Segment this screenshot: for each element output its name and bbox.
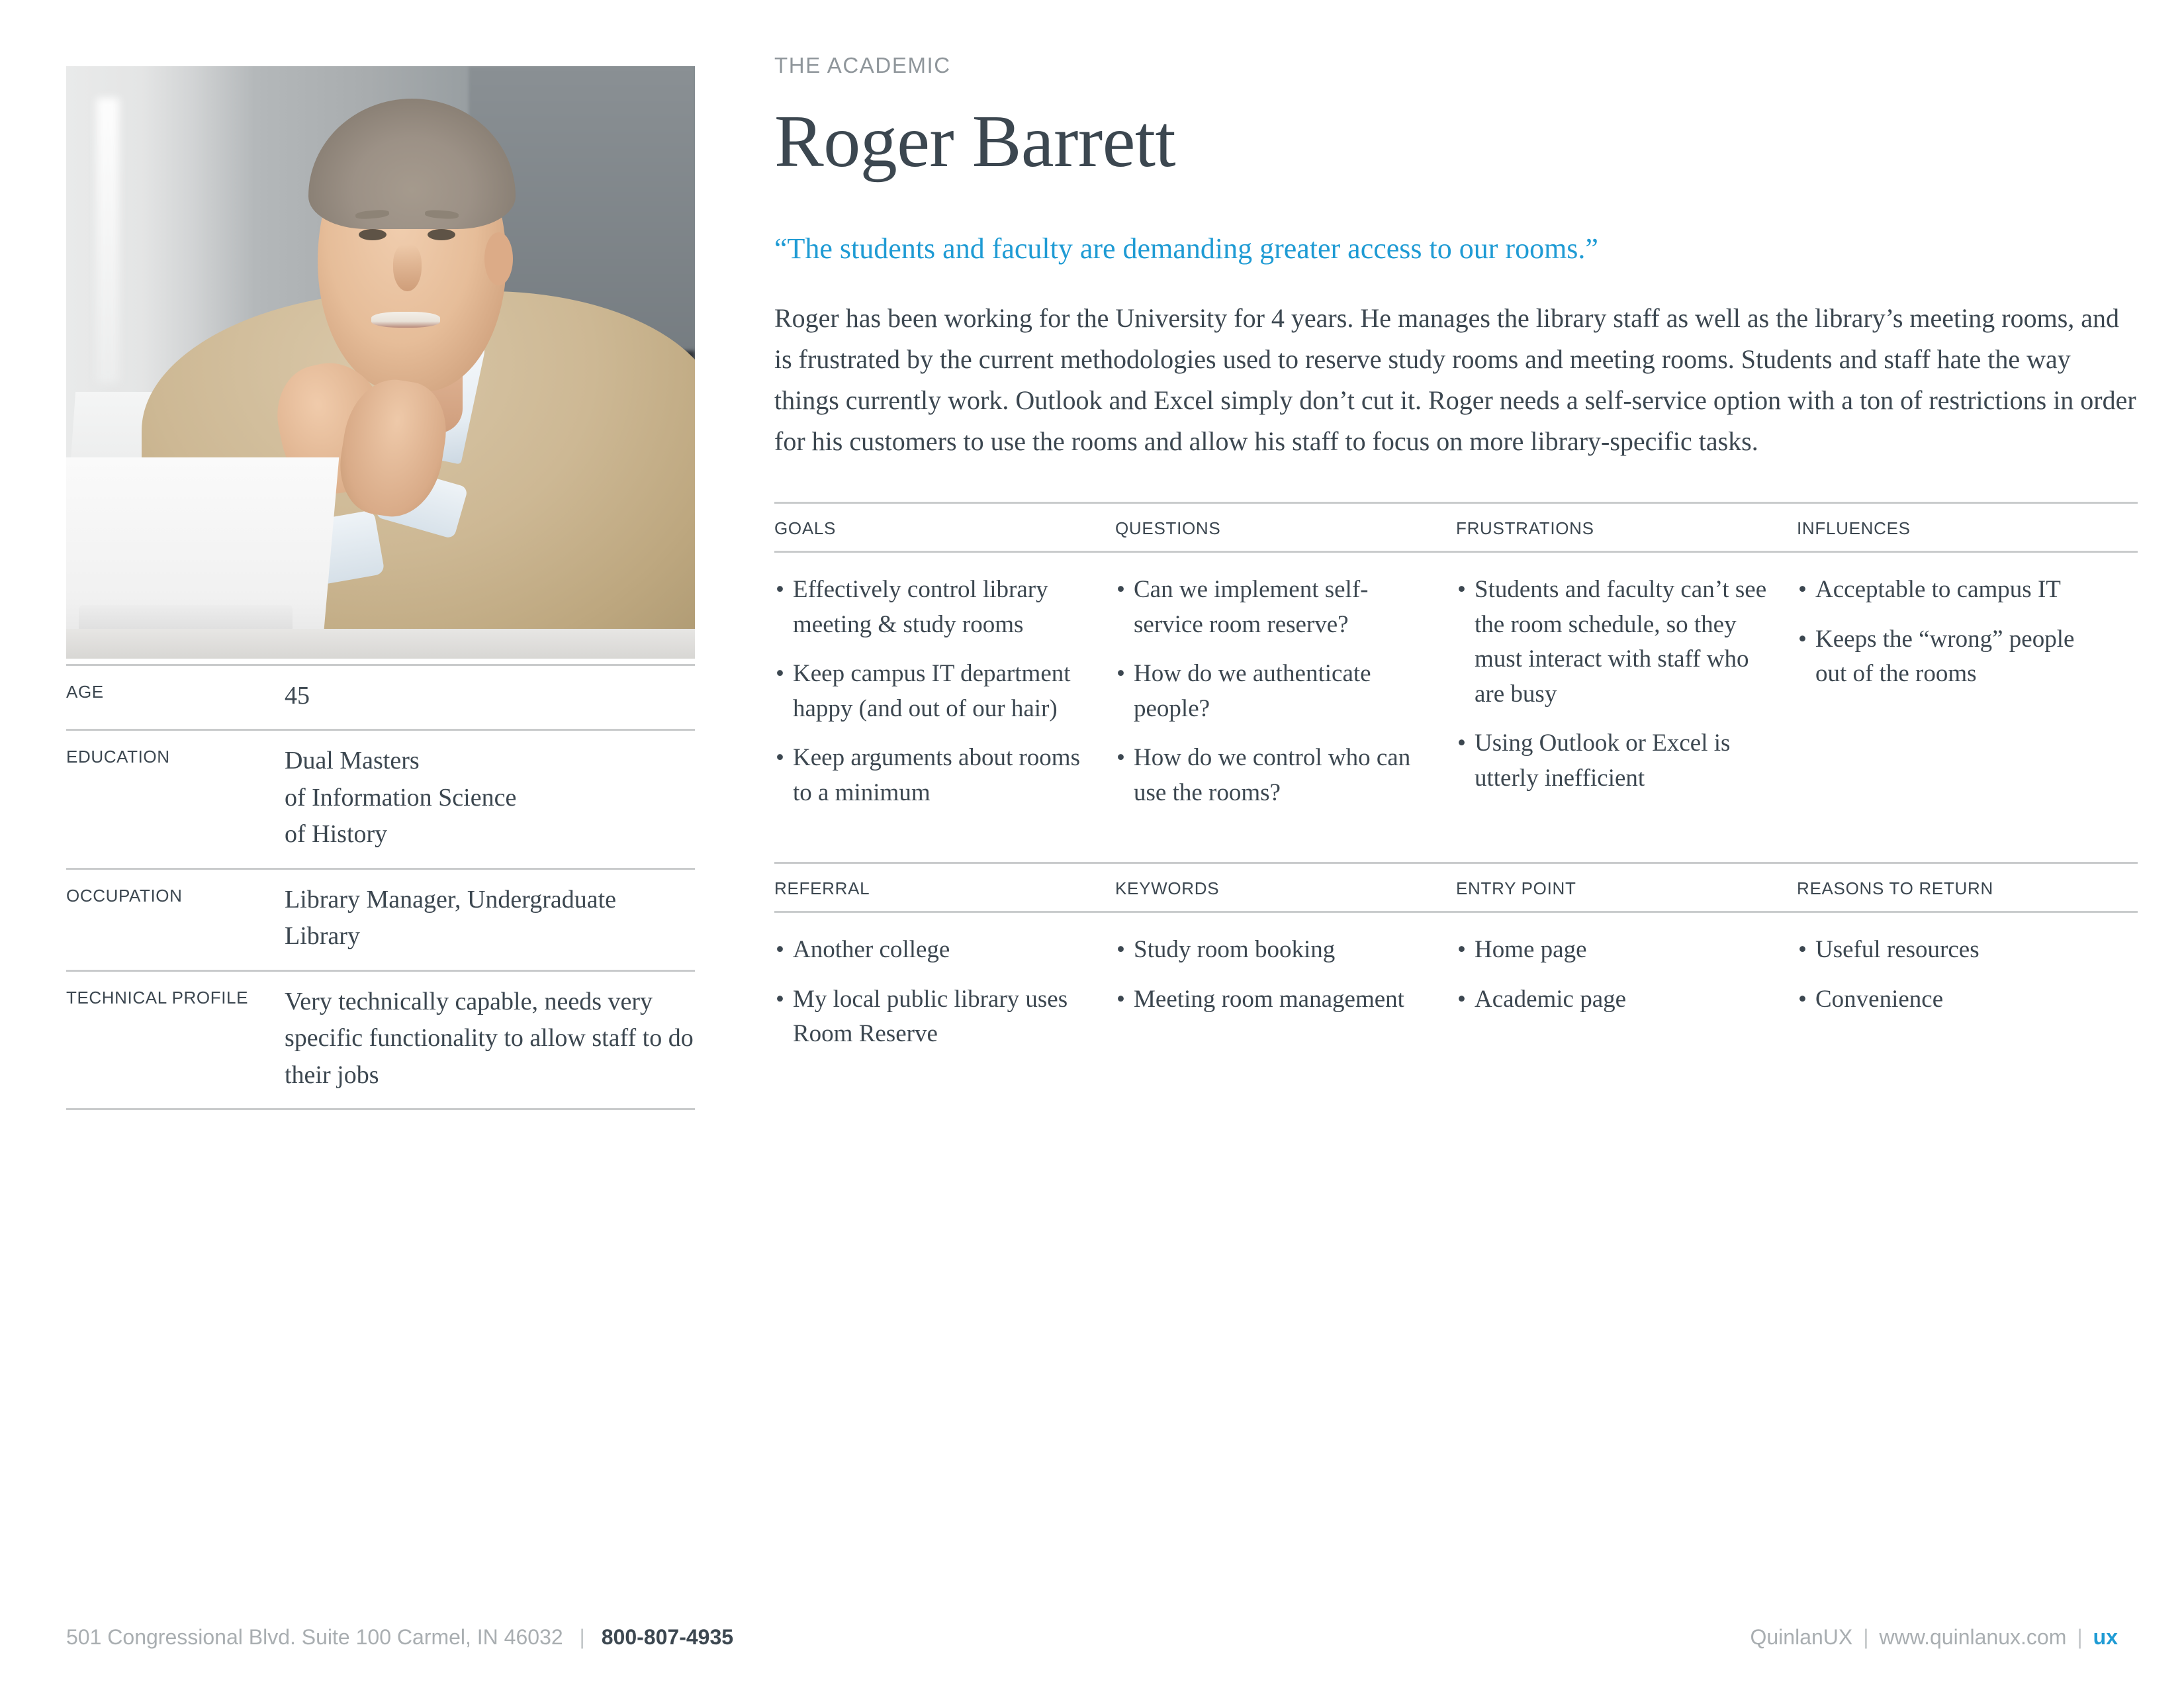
list-item-text: Home page — [1475, 936, 1587, 963]
list-item: •Keep arguments about rooms to a minimum — [774, 741, 1089, 810]
attribute-section-secondary: REFERRAL KEYWORDS ENTRY POINT REASONS TO… — [774, 862, 2138, 1066]
column-influences: •Acceptable to campus IT •Keeps the “wro… — [1797, 573, 2138, 825]
bullet-glyph: • — [1457, 573, 1466, 608]
quinlanux-logo: ux — [2093, 1625, 2118, 1650]
keywords-list: •Study room booking •Meeting room manage… — [1115, 933, 1430, 1017]
footer-separator: | — [2077, 1625, 2082, 1650]
bullet-glyph: • — [776, 657, 784, 692]
column-reasons-to-return: •Useful resources •Convenience — [1797, 933, 2138, 1066]
list-item-text: Effectively control library meeting & st… — [793, 576, 1048, 638]
column-header-goals: GOALS — [774, 518, 1115, 539]
section-headers: GOALS QUESTIONS FRUSTRATIONS INFLUENCES — [774, 504, 2138, 551]
list-item: •Another college — [774, 933, 1089, 968]
entry-point-list: •Home page •Academic page — [1456, 933, 1770, 1017]
frustrations-list: •Students and faculty can’t see the room… — [1456, 573, 1770, 796]
reasons-to-return-list: •Useful resources •Convenience — [1797, 933, 2111, 1017]
photo-person-eye-left — [359, 229, 387, 240]
list-item-text: Convenience — [1815, 986, 1943, 1013]
column-referral: •Another college •My local public librar… — [774, 933, 1115, 1066]
attribute-section-primary: GOALS QUESTIONS FRUSTRATIONS INFLUENCES … — [774, 502, 2138, 825]
persona-bio: Roger has been working for the Universit… — [774, 298, 2138, 462]
list-item-text: Can we implement self-service room reser… — [1134, 576, 1368, 638]
list-item-text: Study room booking — [1134, 936, 1335, 963]
bullet-glyph: • — [1798, 622, 1807, 657]
list-item: •Using Outlook or Excel is utterly ineff… — [1456, 726, 1770, 796]
column-header-questions: QUESTIONS — [1115, 518, 1456, 539]
persona-eyebrow: THE ACADEMIC — [774, 53, 2138, 78]
bullet-glyph: • — [776, 573, 784, 608]
list-item-text: Acceptable to campus IT — [1815, 576, 2061, 603]
bullet-glyph: • — [1457, 933, 1466, 968]
list-item: •Acceptable to campus IT — [1797, 573, 2111, 608]
info-value-technical-profile: Very technically capable, needs very spe… — [285, 984, 695, 1094]
list-item: •Useful resources — [1797, 933, 2111, 968]
list-item: •Convenience — [1797, 982, 2111, 1017]
influences-list: •Acceptable to campus IT •Keeps the “wro… — [1797, 573, 2111, 692]
info-label-technical-profile: TECHNICAL PROFILE — [66, 984, 285, 1008]
column-header-entry-point: ENTRY POINT — [1456, 878, 1797, 899]
photo-person-nose — [393, 244, 422, 292]
list-item-text: How do we authenticate people? — [1134, 660, 1371, 722]
list-item-text: Useful resources — [1815, 936, 1979, 963]
info-row-technical-profile: TECHNICAL PROFILE Very technically capab… — [66, 972, 695, 1108]
bullet-glyph: • — [776, 982, 784, 1017]
list-item: •Home page — [1456, 933, 1770, 968]
right-column: THE ACADEMIC Roger Barrett “The students… — [774, 53, 2138, 1066]
list-item-text: Using Outlook or Excel is utterly ineffi… — [1475, 729, 1730, 792]
list-item: •Effectively control library meeting & s… — [774, 573, 1089, 642]
left-column: AGE 45 EDUCATION Dual Masters of Informa… — [66, 66, 695, 1110]
column-entry-point: •Home page •Academic page — [1456, 933, 1797, 1066]
list-item-text: Keep arguments about rooms to a minimum — [793, 744, 1080, 806]
footer-branding: QuinlanUX | www.quinlanux.com | ux — [1750, 1625, 2118, 1650]
photo-background-light — [97, 98, 119, 383]
column-goals: •Effectively control library meeting & s… — [774, 573, 1115, 825]
column-header-reasons-to-return: REASONS TO RETURN — [1797, 878, 2138, 899]
info-label-education: EDUCATION — [66, 743, 285, 767]
column-header-frustrations: FRUSTRATIONS — [1456, 518, 1797, 539]
section-columns: •Another college •My local public librar… — [774, 913, 2138, 1066]
list-item-text: Meeting room management — [1134, 986, 1404, 1013]
list-item: •How do we authenticate people? — [1115, 657, 1430, 726]
bullet-glyph: • — [1116, 573, 1125, 608]
list-item: •Academic page — [1456, 982, 1770, 1017]
page-footer: 501 Congressional Blvd. Suite 100 Carmel… — [66, 1625, 2118, 1650]
list-item: •How do we control who can use the rooms… — [1115, 741, 1430, 810]
info-row-occupation: OCCUPATION Library Manager, Undergraduat… — [66, 870, 695, 970]
column-header-influences: INFLUENCES — [1797, 518, 2138, 539]
list-item: •Students and faculty can’t see the room… — [1456, 573, 1770, 712]
list-item: •My local public library uses Room Reser… — [774, 982, 1089, 1052]
bullet-glyph: • — [1116, 982, 1125, 1017]
list-item: •Meeting room management — [1115, 982, 1430, 1017]
page-title: Roger Barrett — [774, 102, 2138, 182]
persona-quote: “The students and faculty are demanding … — [774, 230, 2138, 267]
column-frustrations: •Students and faculty can’t see the room… — [1456, 573, 1797, 825]
info-value-education: Dual Masters of Information Science of H… — [285, 743, 695, 853]
column-questions: •Can we implement self-service room rese… — [1115, 573, 1456, 825]
info-label-occupation: OCCUPATION — [66, 882, 285, 906]
info-table-rule — [66, 1108, 695, 1110]
list-item-text: Keep campus IT department happy (and out… — [793, 660, 1071, 722]
info-value-age: 45 — [285, 678, 695, 714]
bullet-glyph: • — [1798, 573, 1807, 608]
section-columns: •Effectively control library meeting & s… — [774, 553, 2138, 825]
info-value-occupation: Library Manager, Undergraduate Library — [285, 882, 695, 955]
questions-list: •Can we implement self-service room rese… — [1115, 573, 1430, 810]
photo-foreground-desk — [66, 629, 695, 659]
column-header-keywords: KEYWORDS — [1115, 878, 1456, 899]
list-item-text: Another college — [793, 936, 950, 963]
footer-contact: 501 Congressional Blvd. Suite 100 Carmel… — [66, 1625, 733, 1650]
footer-separator: | — [1863, 1625, 1868, 1650]
footer-address: 501 Congressional Blvd. Suite 100 Carmel… — [66, 1625, 563, 1649]
list-item-text: Keeps the “wrong” people out of the room… — [1815, 626, 2074, 688]
persona-photo — [66, 66, 695, 659]
list-item-text: My local public library uses Room Reserv… — [793, 986, 1068, 1048]
bullet-glyph: • — [776, 741, 784, 776]
info-row-age: AGE 45 — [66, 666, 695, 729]
bullet-glyph: • — [1457, 982, 1466, 1017]
list-item: •Keeps the “wrong” people out of the roo… — [1797, 622, 2111, 692]
footer-company: QuinlanUX — [1750, 1625, 1852, 1650]
bullet-glyph: • — [776, 933, 784, 968]
bullet-glyph: • — [1798, 982, 1807, 1017]
photo-person-ear — [484, 232, 513, 286]
bullet-glyph: • — [1116, 657, 1125, 692]
list-item: •Study room booking — [1115, 933, 1430, 968]
column-keywords: •Study room booking •Meeting room manage… — [1115, 933, 1456, 1066]
bullet-glyph: • — [1798, 933, 1807, 968]
goals-list: •Effectively control library meeting & s… — [774, 573, 1089, 810]
list-item-text: How do we control who can use the rooms? — [1134, 744, 1410, 806]
bullet-glyph: • — [1116, 741, 1125, 776]
bullet-glyph: • — [1457, 726, 1466, 761]
list-item: •Can we implement self-service room rese… — [1115, 573, 1430, 642]
referral-list: •Another college •My local public librar… — [774, 933, 1089, 1052]
list-item: •Keep campus IT department happy (and ou… — [774, 657, 1089, 726]
persona-page: AGE 45 EDUCATION Dual Masters of Informa… — [0, 0, 2184, 1688]
info-row-education: EDUCATION Dual Masters of Information Sc… — [66, 731, 695, 867]
section-headers: REFERRAL KEYWORDS ENTRY POINT REASONS TO… — [774, 864, 2138, 911]
photo-person-mouth — [371, 312, 441, 327]
info-label-age: AGE — [66, 678, 285, 702]
footer-separator: | — [580, 1625, 585, 1649]
persona-info-table: AGE 45 EDUCATION Dual Masters of Informa… — [66, 664, 695, 1110]
footer-phone[interactable]: 800-807-4935 — [602, 1625, 733, 1649]
list-item-text: Students and faculty can’t see the room … — [1475, 576, 1766, 708]
column-header-referral: REFERRAL — [774, 878, 1115, 899]
bullet-glyph: • — [1116, 933, 1125, 968]
list-item-text: Academic page — [1475, 986, 1626, 1013]
footer-website[interactable]: www.quinlanux.com — [1880, 1625, 2067, 1650]
